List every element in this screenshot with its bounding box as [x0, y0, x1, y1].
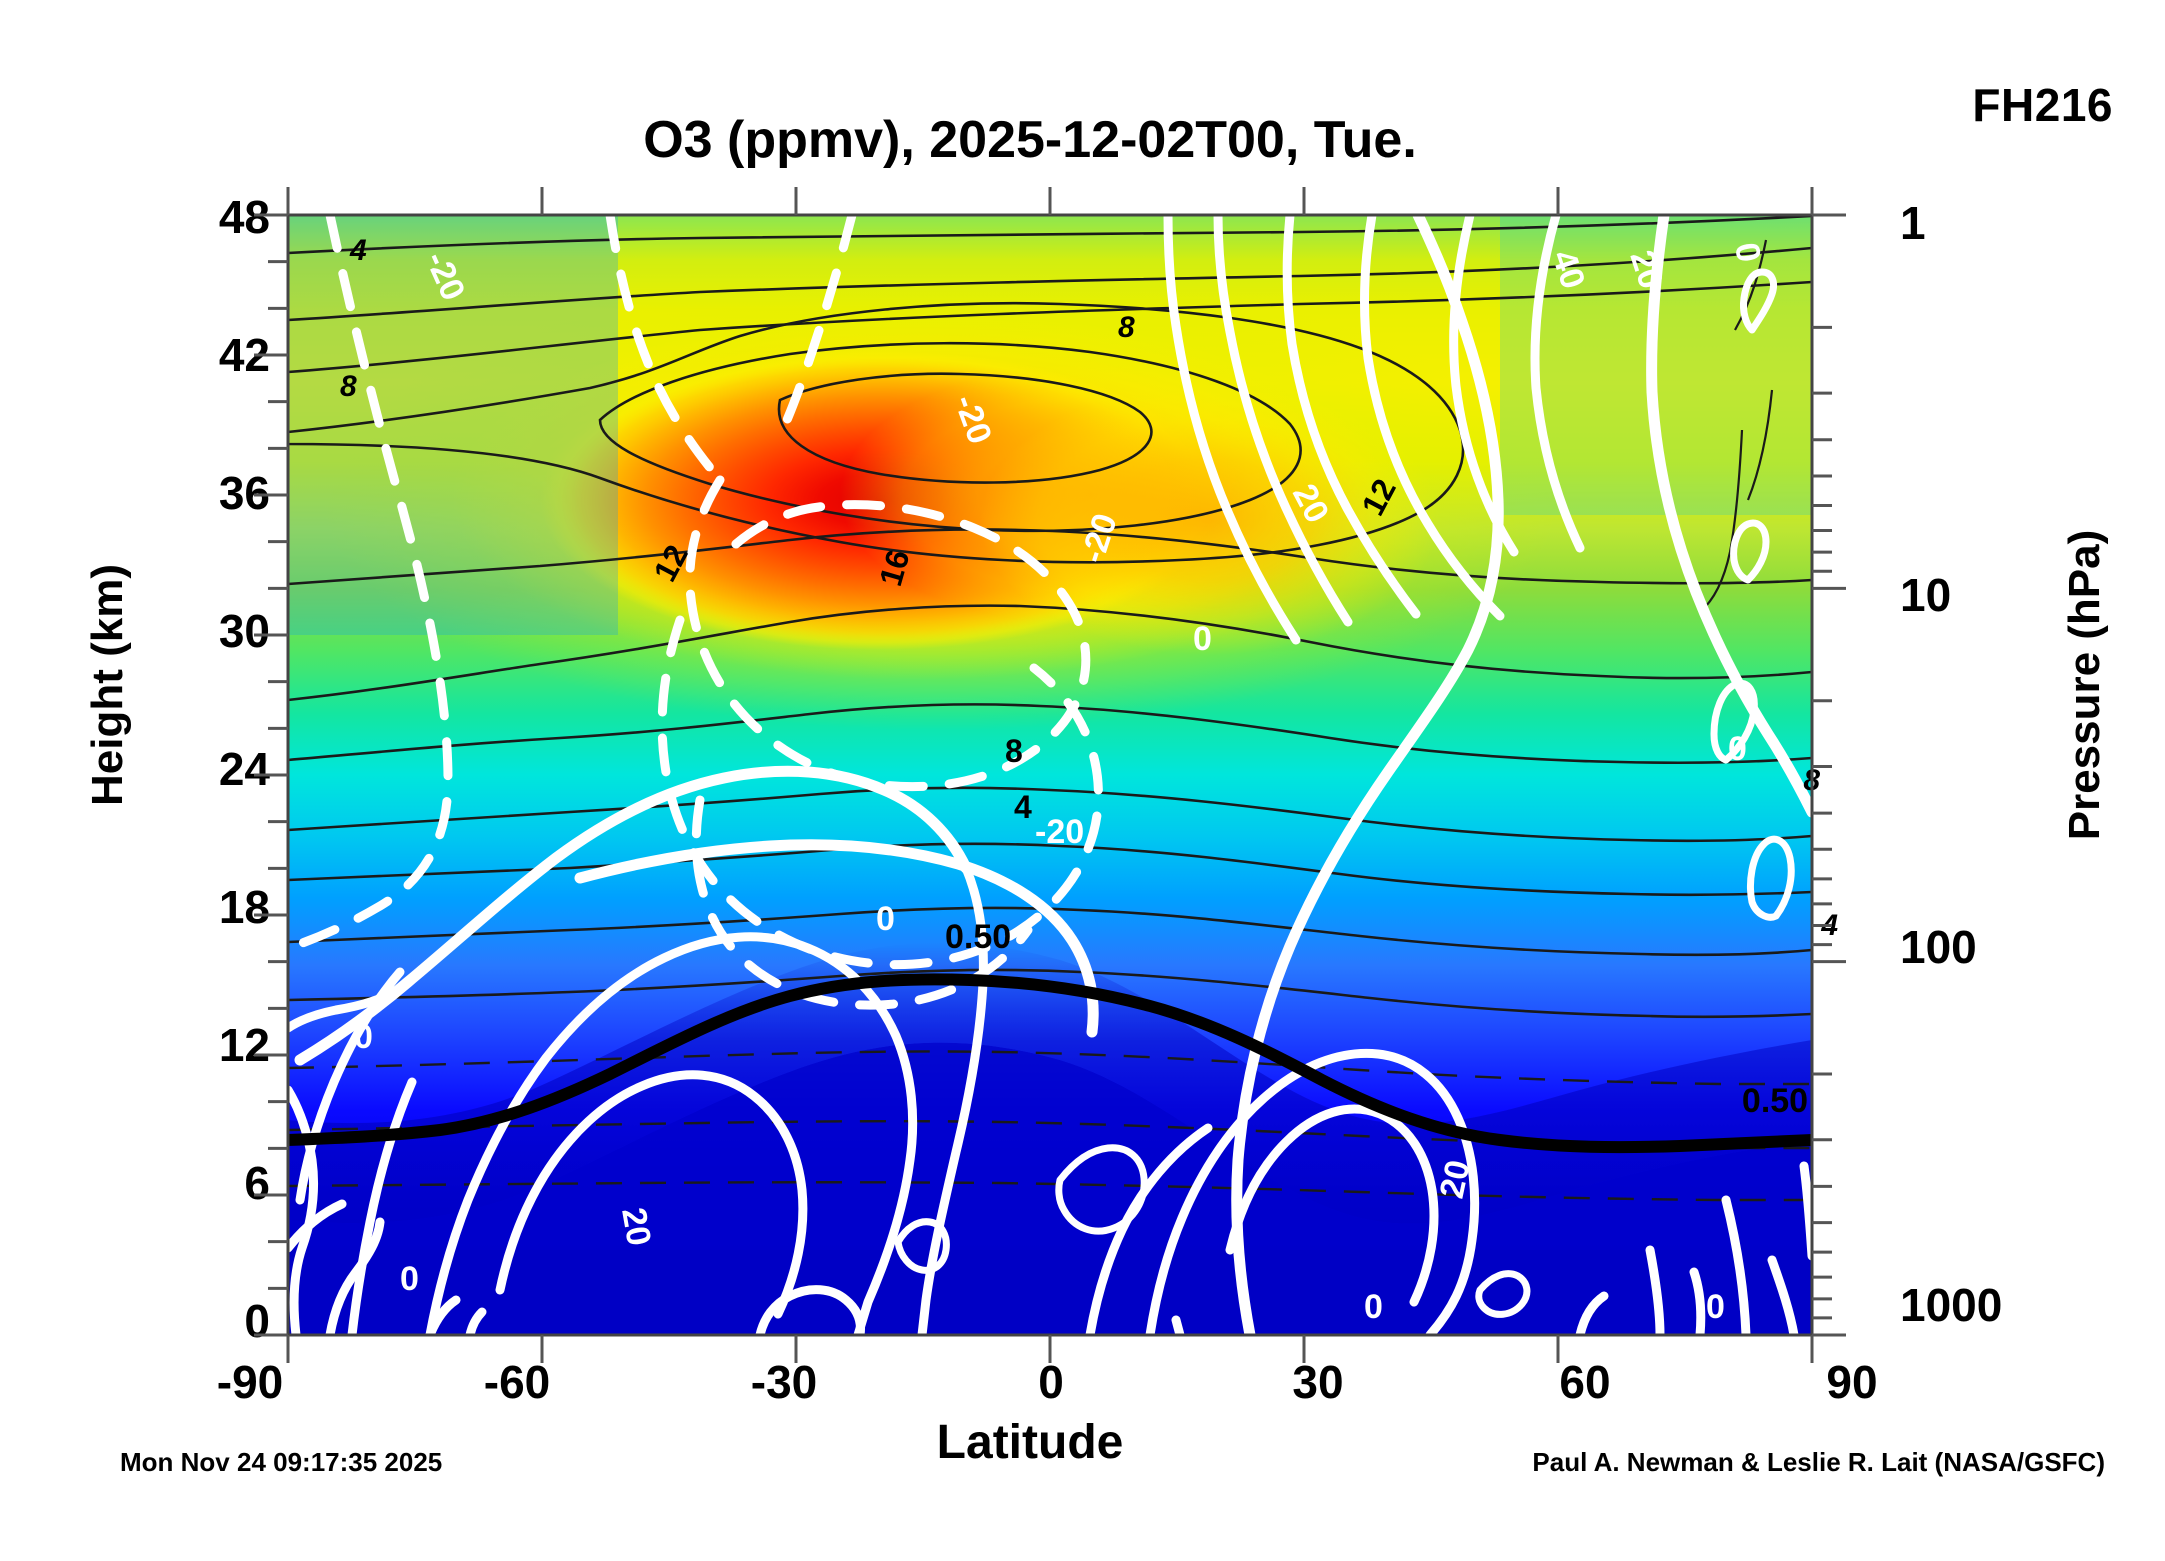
wind-label-0-center: 0 — [1193, 620, 1212, 658]
wind-label-0-sh: 0 — [354, 1018, 373, 1056]
wind-label-0-bottom-sh: 0 — [400, 1260, 419, 1298]
wind-label-0-bottom-pole: 0 — [1706, 1288, 1725, 1326]
wind-contour-stub-a — [1176, 1320, 1180, 1335]
wind-label-0-tropics: 0 — [876, 900, 895, 938]
o3-label-4-mid: 4 — [1014, 789, 1032, 825]
wind-label-20-nh-low: 20 — [1433, 1157, 1478, 1202]
o3-label-050-center: 0.50 — [945, 918, 1011, 956]
wind-label-0-right-mid: 0 — [1728, 730, 1747, 768]
wind-label-m20-lower: -20 — [1035, 813, 1084, 851]
o3-label-8-mid: 8 — [1005, 733, 1023, 769]
chart-canvas: FH216 O3 (ppmv), 2025-12-02T00, Tue. Hei… — [0, 0, 2165, 1561]
plot-area: 4 8 8 12 12 16 8 4 8 4 0.50 0.50 -20 -20… — [0, 0, 2165, 1561]
o3-label-050-right: 0.50 — [1742, 1082, 1808, 1120]
wind-label-20-sh-low: 20 — [614, 1205, 658, 1249]
o3-label-8-topleft: 8 — [340, 370, 357, 403]
wind-label-0-bottom-nh: 0 — [1364, 1288, 1383, 1326]
contour-fill-layer — [288, 215, 1812, 1335]
o3-label-4-topleft: 4 — [349, 234, 367, 267]
o3-label-8-upper: 8 — [1118, 311, 1135, 344]
